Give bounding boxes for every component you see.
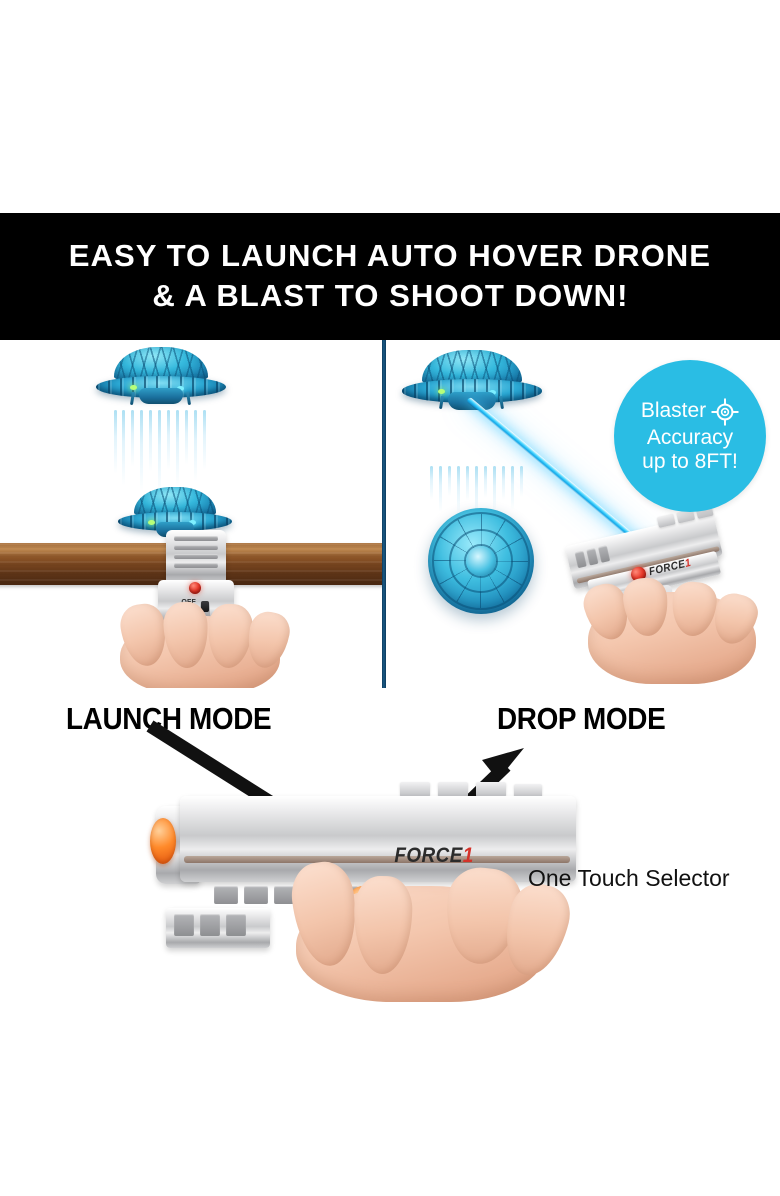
hand-right-panel <box>580 578 770 688</box>
blaster-rail <box>438 782 468 797</box>
rotor-blur-streaks-upper <box>112 410 212 496</box>
blaster-accuracy-badge: Blaster Accuracy up to 8FT! <box>614 360 766 512</box>
blaster-vent <box>244 886 268 904</box>
launch-mode-panel: OFF ON <box>0 340 386 688</box>
hover-drone-target <box>402 348 542 426</box>
blaster-vent <box>214 886 238 904</box>
headline-line-2: & A BLAST TO SHOOT DOWN! <box>152 277 628 316</box>
launch-mode-label: LAUNCH MODE <box>66 701 271 737</box>
headline-line-1: EASY TO LAUNCH AUTO HOVER DRONE <box>69 237 711 276</box>
blaster-vent <box>174 563 218 568</box>
blaster-vent <box>174 554 218 559</box>
blaster-vent <box>200 914 220 936</box>
badge-row-1: Blaster <box>641 398 739 426</box>
drone-hub <box>466 546 496 576</box>
hand-hero <box>270 862 570 1002</box>
muzzle-emitter <box>150 818 176 864</box>
hover-drone-falling <box>428 508 534 614</box>
hover-drone-upper <box>96 346 226 420</box>
drone-underbody <box>139 388 183 404</box>
drop-mode-label: DROP MODE <box>497 701 665 737</box>
blaster-rail <box>400 782 430 797</box>
badge-line-3: up to 8FT! <box>642 450 738 474</box>
headline-banner: EASY TO LAUNCH AUTO HOVER DRONE & A BLAS… <box>0 213 780 340</box>
badge-line-2: Accuracy <box>647 426 733 450</box>
one-touch-selector-label: One Touch Selector <box>528 865 730 892</box>
hand-left-panel <box>108 602 298 688</box>
infographic-canvas: EASY TO LAUNCH AUTO HOVER DRONE & A BLAS… <box>0 0 780 1196</box>
blaster-vent <box>174 914 194 936</box>
blaster-vent <box>226 914 246 936</box>
blaster-vent <box>174 536 218 541</box>
blaster-rail <box>476 782 506 797</box>
drone-leg-left <box>439 396 444 410</box>
power-indicator-led[interactable] <box>189 582 201 594</box>
blaster-vent <box>174 545 218 550</box>
crosshair-target-icon <box>711 398 739 426</box>
drone-leg-left <box>130 392 135 405</box>
panel-divider <box>382 340 386 688</box>
badge-line-1: Blaster <box>641 399 706 423</box>
